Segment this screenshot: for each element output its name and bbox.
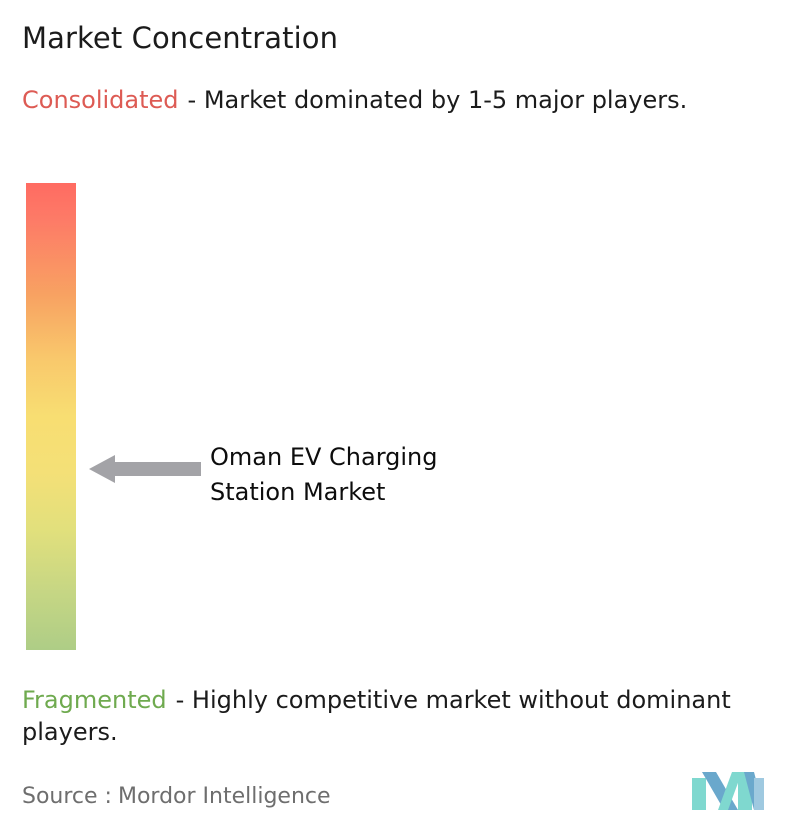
legend-consolidated-term: Consolidated — [22, 86, 179, 114]
legend-consolidated: Consolidated- Market dominated by 1-5 ma… — [22, 84, 762, 116]
marker-label-line2: Station Market — [210, 475, 550, 510]
legend-consolidated-description: - Market dominated by 1-5 major players. — [188, 86, 688, 114]
marker-label-line1: Oman EV Charging — [210, 443, 438, 471]
marker-pointer — [89, 454, 201, 484]
concentration-scale-bar — [26, 183, 76, 650]
arrow-left-icon — [89, 454, 201, 484]
brand-logo — [692, 770, 764, 816]
legend-fragmented-term: Fragmented — [22, 686, 167, 714]
market-concentration-infographic: Market Concentration Consolidated- Marke… — [0, 0, 796, 834]
page-title: Market Concentration — [22, 20, 338, 56]
mordor-intelligence-logo-icon — [692, 770, 764, 816]
source-value: Mordor Intelligence — [118, 784, 331, 809]
legend-fragmented: Fragmented- Highly competitive market wi… — [22, 684, 788, 748]
source-label: Source : — [22, 784, 112, 809]
source-attribution: Source :Mordor Intelligence — [22, 782, 331, 812]
marker-label: Oman EV Charging Station Market — [210, 440, 550, 510]
